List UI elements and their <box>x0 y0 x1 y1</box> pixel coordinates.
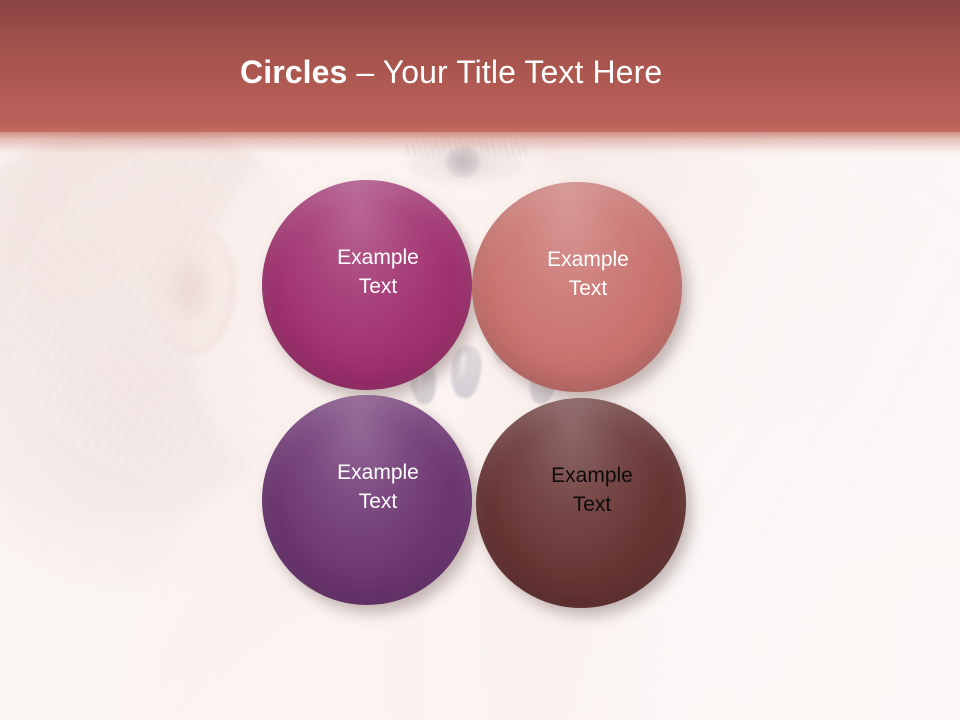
circle-label: Example Text <box>337 458 419 516</box>
header-fade <box>0 126 960 160</box>
background-ear-inner <box>172 258 212 324</box>
fingernail-shine <box>458 352 467 383</box>
slide: Circles – Your Title Text Here Example T… <box>0 0 960 720</box>
circle-label: Example Text <box>547 245 629 303</box>
content-circle-top-left[interactable]: Example Text <box>262 180 472 390</box>
circle-label: Example Text <box>337 243 419 301</box>
content-circle-top-right[interactable]: Example Text <box>472 182 682 392</box>
page-title-rest: – Your Title Text Here <box>347 54 662 90</box>
content-circle-bottom-left[interactable]: Example Text <box>262 395 472 605</box>
circle-label: Example Text <box>551 461 633 519</box>
page-title: Circles – Your Title Text Here <box>240 50 662 94</box>
page-title-bold: Circles <box>240 54 347 90</box>
content-circle-bottom-right[interactable]: Example Text <box>476 398 686 608</box>
